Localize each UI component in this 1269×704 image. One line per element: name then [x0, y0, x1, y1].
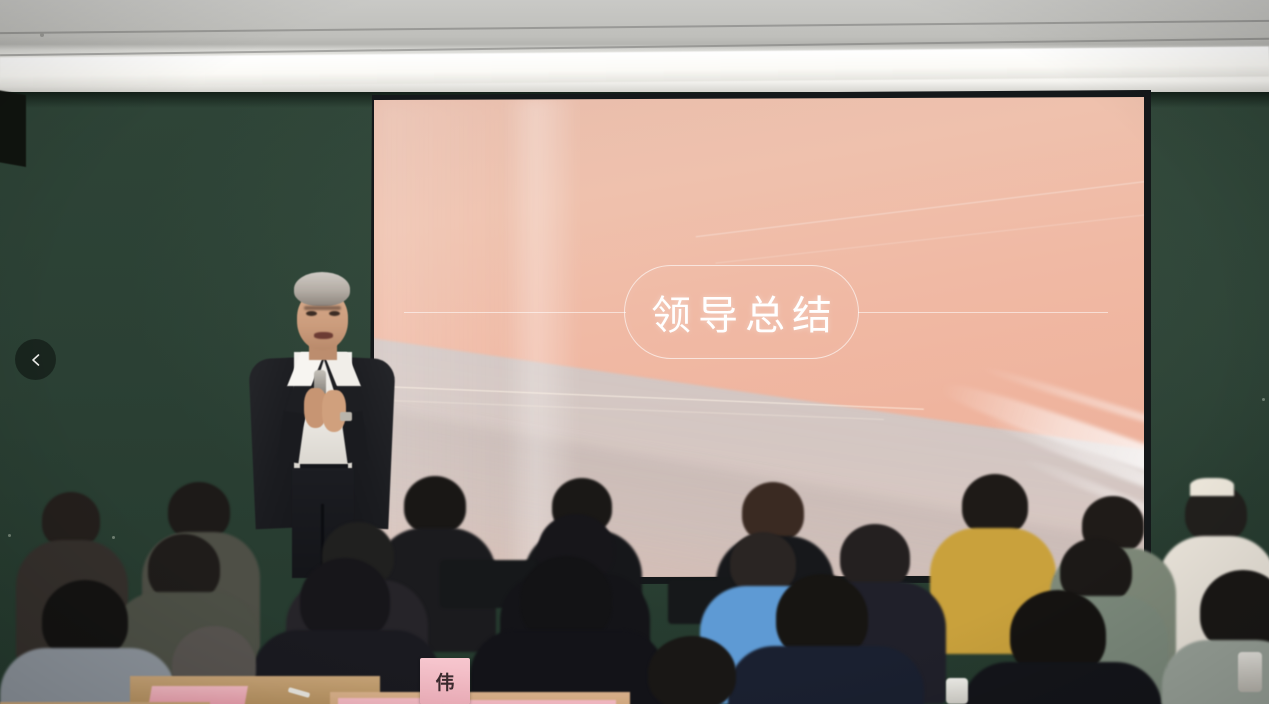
presenter-wristwatch — [340, 412, 352, 421]
audience-head — [962, 474, 1028, 536]
slide-swoosh-line — [715, 211, 1144, 263]
slide-title-pill: 领导总结 — [624, 265, 859, 359]
presenter-mouth — [314, 332, 333, 339]
presenter-eye-left — [306, 311, 317, 316]
presenter-eye-right — [329, 311, 340, 316]
audience-body — [728, 646, 924, 704]
presenter-brow — [304, 306, 341, 310]
presenter-hair — [294, 272, 350, 306]
slide-title-rule-right — [858, 312, 1108, 313]
chevron-left-icon — [28, 352, 44, 368]
slide-title-rule-left — [404, 312, 626, 313]
ceiling — [0, 0, 1269, 96]
slide-title-group: 领导总结 — [374, 265, 1144, 375]
wall-highlight — [1262, 398, 1265, 401]
audience-head — [404, 476, 466, 534]
desk-cup — [946, 678, 968, 704]
audience-group: 伟 — [0, 440, 1269, 704]
slide-title-text: 领导总结 — [644, 283, 839, 341]
desk-paper — [466, 700, 616, 704]
desk-cup — [1238, 652, 1262, 692]
ceiling-seam — [0, 20, 1269, 34]
name-plate-text: 伟 — [435, 668, 454, 695]
audience-body — [962, 662, 1162, 704]
audience-head — [730, 532, 796, 594]
presenter-hand-right — [322, 390, 346, 432]
screenshot-root: 领导总结 — [0, 0, 1269, 704]
ceiling-speaker — [0, 89, 26, 167]
ceiling-screw — [40, 33, 44, 37]
slide-swoosh-line — [696, 178, 1144, 237]
audience-head — [840, 524, 910, 590]
audience-headband — [1190, 478, 1234, 496]
name-plate: 伟 — [420, 658, 470, 704]
prev-image-button[interactable] — [15, 339, 56, 380]
audience-head — [648, 636, 736, 704]
